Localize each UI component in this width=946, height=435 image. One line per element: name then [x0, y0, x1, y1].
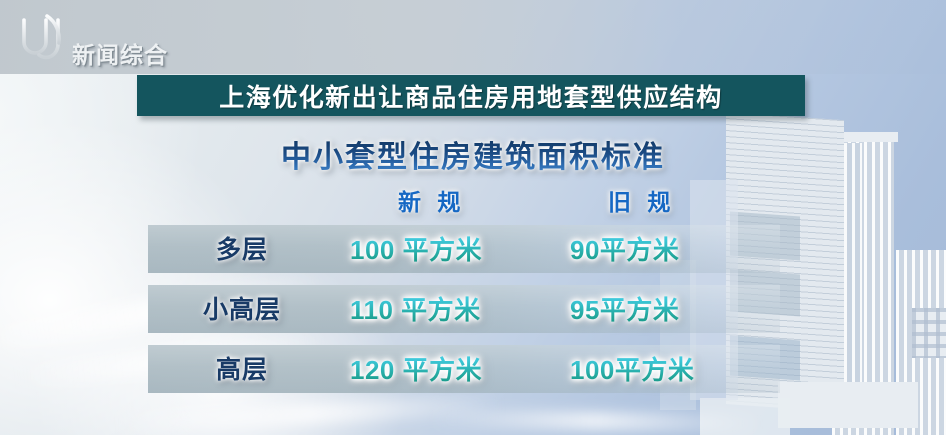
row-new-rule-value: 100 平方米 [350, 230, 550, 267]
channel-name-text: 新闻综合 [72, 36, 168, 70]
banner-title-text: 上海优化新出让商品住房用地套型供应结构 [219, 78, 723, 114]
row-new-rule-value: 120 平方米 [350, 350, 550, 387]
value-text: 90平方米 [570, 230, 679, 267]
row-old-rule-value: 90平方米 [570, 230, 790, 267]
title-banner: 上海优化新出让商品住房用地套型供应结构 [137, 75, 805, 116]
value-text: 95平方米 [570, 290, 679, 327]
table-row: 高层 120 平方米 100平方米 [0, 339, 946, 399]
subtitle-row: 中小套型住房建筑面积标准 [0, 132, 946, 176]
table-row: 多层 100 平方米 90平方米 [0, 219, 946, 279]
value-text: 110 平方米 [350, 290, 481, 327]
value-text: 100 平方米 [350, 230, 482, 267]
row-category-label: 多层 [148, 230, 336, 266]
channel-logo: 新闻综合 [14, 12, 244, 68]
row-old-rule-value: 95平方米 [570, 290, 790, 327]
table-header-row: 新 规 旧 规 [0, 183, 946, 219]
row-category-label: 高层 [148, 350, 336, 386]
column-header-old-rule: 旧 规 [608, 183, 675, 217]
row-category-label: 小高层 [148, 290, 336, 326]
value-text: 100平方米 [570, 350, 694, 387]
subtitle-text: 中小套型住房建筑面积标准 [281, 132, 665, 176]
row-new-rule-value: 110 平方米 [350, 290, 550, 327]
standards-table: 新 规 旧 规 多层 100 平方米 90平方米 小高层 110 平方米 95平… [0, 183, 946, 399]
column-header-new-rule: 新 规 [398, 183, 465, 217]
value-text: 120 平方米 [350, 350, 482, 387]
row-old-rule-value: 100平方米 [570, 350, 790, 387]
tulip-flower-logo-icon [14, 12, 70, 66]
broadcast-graphic-screen: 新闻综合 上海优化新出让商品住房用地套型供应结构 中小套型住房建筑面积标准 新 … [0, 0, 946, 435]
table-row: 小高层 110 平方米 95平方米 [0, 279, 946, 339]
